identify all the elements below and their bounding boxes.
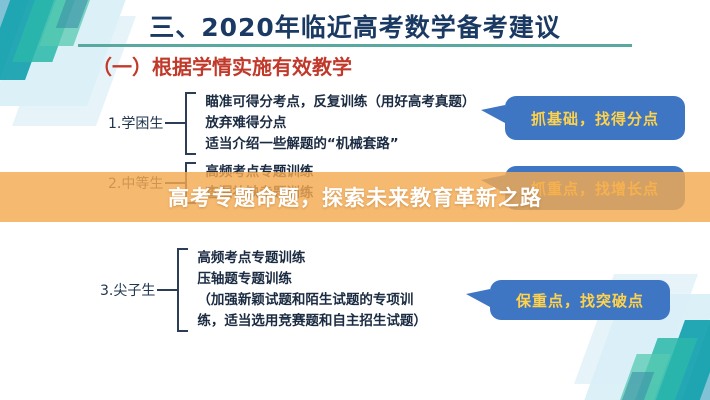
group-label: 1.学困生: [108, 113, 165, 133]
group-bracket: [177, 248, 188, 332]
group-item: （加强新颖试题和陌生试题的专项训: [197, 290, 427, 311]
group-item: 瞄准可得分考点，反复训练（用好高考真题）: [205, 92, 475, 113]
group-item: 适当介绍一些解题的“机械套路”: [205, 134, 475, 155]
deco-parallelogram: [603, 354, 670, 400]
overlay-banner: 高考专题命题，探索未来教育革新之路: [0, 172, 710, 222]
deco-parallelogram: [618, 338, 697, 400]
title-divider: [78, 44, 632, 47]
slide-subtitle: （一）根据学情实施有效教学: [92, 51, 352, 80]
group-item: 放弃难得分点: [205, 113, 475, 134]
overlay-banner-text: 高考专题命题，探索未来教育革新之路: [168, 182, 542, 212]
group-items: 高频考点专题训练 压轴题专题训练 （加强新颖试题和陌生试题的专项训 练，适当选用…: [188, 248, 427, 332]
student-group-1: 1.学困生 瞄准可得分考点，反复训练（用好高考真题） 放弃难得分点 适当介绍一些…: [108, 92, 475, 155]
group-label: 3.尖子生: [100, 280, 157, 300]
group-items: 瞄准可得分考点，反复训练（用好高考真题） 放弃难得分点 适当介绍一些解题的“机械…: [196, 92, 475, 155]
deco-parallelogram: [639, 320, 710, 400]
group-item: 压轴题专题训练: [197, 269, 427, 290]
presentation-slide: 三、2020年临近高考数学备考建议 （一）根据学情实施有效教学 1.学困生 瞄准…: [0, 0, 710, 400]
group-item: 练，适当选用竞赛题和自主招生试题）: [197, 311, 427, 332]
group-item: 高频考点专题训练: [197, 248, 427, 269]
group-connector: [165, 122, 185, 124]
deco-parallelogram: [612, 372, 654, 400]
callout-bubble-3: 保重点，找突破点: [490, 280, 670, 320]
slide-title: 三、2020年临近高考数学备考建议: [0, 8, 710, 44]
group-connector: [157, 289, 177, 291]
decorative-shape-bottom-right: [550, 256, 710, 400]
callout-bubble-1: 抓基础，找得分点: [505, 96, 685, 140]
deco-parallelogram: [665, 296, 710, 400]
group-bracket: [185, 92, 196, 155]
student-group-3: 3.尖子生 高频考点专题训练 压轴题专题训练 （加强新颖试题和陌生试题的专项训 …: [100, 248, 427, 332]
